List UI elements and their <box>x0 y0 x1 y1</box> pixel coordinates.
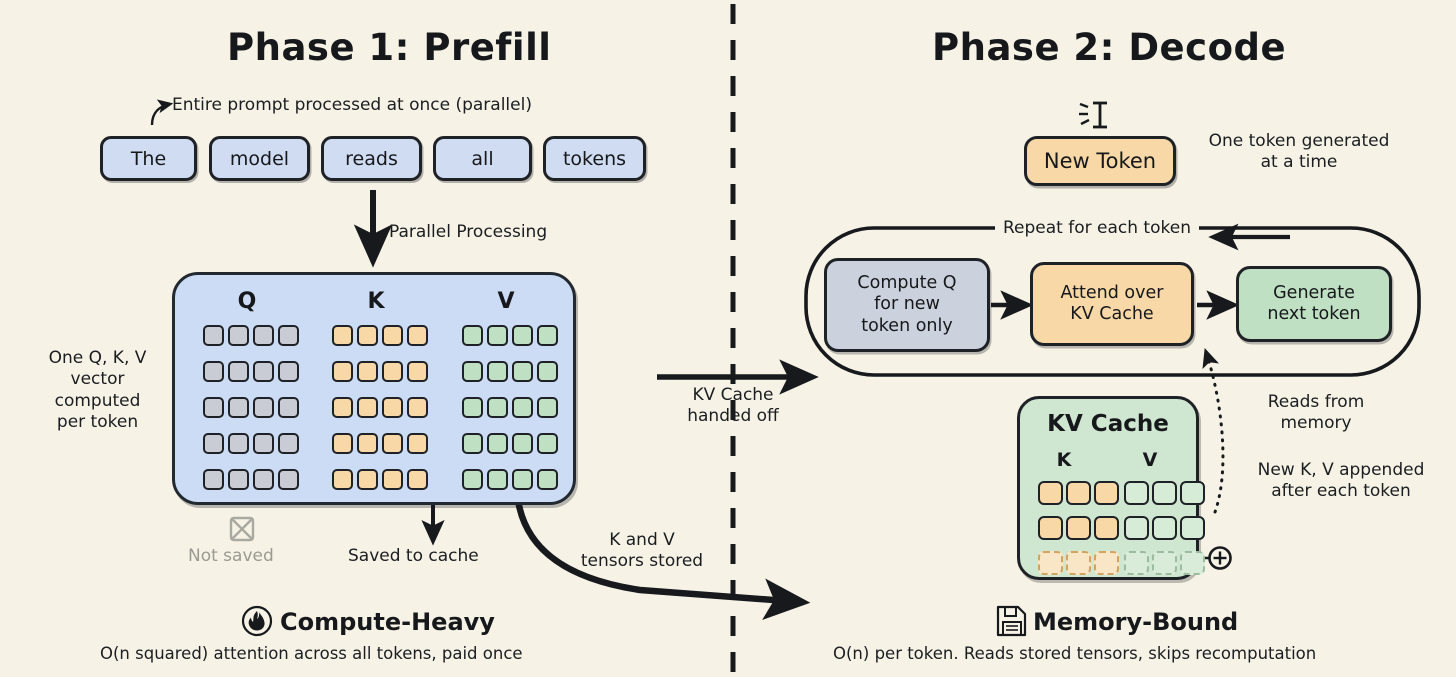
qkv-cell-k-1-2 <box>382 361 403 382</box>
qkv-cell-q-2-0 <box>203 397 224 418</box>
not-saved-crossed-box-icon <box>231 518 253 540</box>
qkv-panel: Q K V <box>172 272 576 505</box>
qkv-cell-q-1-1 <box>228 361 249 382</box>
qkv-cell-v-2-1 <box>487 397 508 418</box>
new-token-note: One token generated at a time <box>1186 131 1412 174</box>
token-chip-3[interactable]: all <box>433 136 532 181</box>
reads-from-memory-arrow <box>1206 352 1223 512</box>
prefill-callout: Entire prompt processed at once (paralle… <box>172 95 532 116</box>
tensors-stored-label: K and V tensors stored <box>560 530 724 573</box>
token-chip-4[interactable]: tokens <box>543 136 646 181</box>
qkv-cell-q-3-1 <box>228 433 249 454</box>
qkv-cell-v-4-2 <box>512 469 533 490</box>
kv-cache-cell-v-1-1 <box>1152 516 1177 540</box>
qkv-cell-q-1-3 <box>278 361 299 382</box>
qkv-cell-q-2-1 <box>228 397 249 418</box>
qkv-cell-k-1-0 <box>332 361 353 382</box>
qkv-cell-q-4-1 <box>228 469 249 490</box>
kv-cache-cell-v-1-0 <box>1124 516 1149 540</box>
text-cursor-icon <box>1079 103 1107 127</box>
qkv-cell-k-2-1 <box>357 397 378 418</box>
token-chip-2[interactable]: reads <box>321 136 422 181</box>
qkv-cell-v-4-0 <box>462 469 483 490</box>
qkv-cell-v-0-1 <box>487 325 508 346</box>
qkv-column-label-v: V <box>497 289 514 314</box>
kv-cache-cell-v-2-0-pending <box>1124 551 1149 575</box>
qkv-cell-v-2-3 <box>537 397 558 418</box>
qkv-cell-v-1-0 <box>462 361 483 382</box>
decode-step-attend-kv[interactable]: Attend over KV Cache <box>1030 262 1194 346</box>
qkv-cell-v-1-1 <box>487 361 508 382</box>
kv-cache-cell-v-2-2-pending <box>1180 551 1205 575</box>
qkv-cell-k-3-0 <box>332 433 353 454</box>
kv-cache-cell-k-2-1-pending <box>1066 551 1091 575</box>
qkv-cell-k-3-2 <box>382 433 403 454</box>
phase-1-title: Phase 1: Prefill <box>227 26 551 69</box>
qkv-cell-q-0-1 <box>228 325 249 346</box>
qkv-cell-q-0-3 <box>278 325 299 346</box>
token-chip-0[interactable]: The <box>100 136 197 181</box>
qkv-cell-v-0-3 <box>537 325 558 346</box>
qkv-cell-v-2-0 <box>462 397 483 418</box>
qkv-cell-q-3-3 <box>278 433 299 454</box>
qkv-cell-q-1-0 <box>203 361 224 382</box>
parallel-processing-label: Parallel Processing <box>389 222 547 243</box>
qkv-side-note: One Q, K, V vector computed per token <box>20 348 175 433</box>
qkv-cell-k-3-3 <box>407 433 428 454</box>
kv-cache-panel: KV Cache K V <box>1017 396 1199 580</box>
qkv-cell-q-1-2 <box>253 361 274 382</box>
qkv-cell-v-2-2 <box>512 397 533 418</box>
qkv-cell-v-3-3 <box>537 433 558 454</box>
qkv-column-label-k: K <box>367 289 384 314</box>
not-saved-label: Not saved <box>188 546 274 567</box>
qkv-cell-v-4-1 <box>487 469 508 490</box>
qkv-cell-q-4-0 <box>203 469 224 490</box>
qkv-cell-q-0-0 <box>203 325 224 346</box>
qkv-cell-v-3-1 <box>487 433 508 454</box>
qkv-cell-k-4-1 <box>357 469 378 490</box>
kv-cache-cell-k-1-0 <box>1038 516 1063 540</box>
floppy-disk-icon <box>998 607 1025 635</box>
qkv-cell-k-0-0 <box>332 325 353 346</box>
qkv-cell-k-0-1 <box>357 325 378 346</box>
qkv-cell-k-3-1 <box>357 433 378 454</box>
kv-cache-k-label: K <box>1057 449 1072 471</box>
qkv-cell-v-1-2 <box>512 361 533 382</box>
kv-cache-cell-k-2-0-pending <box>1038 551 1063 575</box>
qkv-cell-q-2-3 <box>278 397 299 418</box>
qkv-cell-k-0-2 <box>382 325 403 346</box>
kv-cache-cell-k-1-1 <box>1066 516 1091 540</box>
qkv-cell-k-1-1 <box>357 361 378 382</box>
qkv-cell-q-4-3 <box>278 469 299 490</box>
kv-cache-cell-v-1-2 <box>1180 516 1205 540</box>
qkv-cell-v-1-3 <box>537 361 558 382</box>
decode-step-generate-token[interactable]: Generate next token <box>1236 266 1392 342</box>
kv-cache-cell-k-2-2-pending <box>1094 551 1119 575</box>
saved-to-cache-label: Saved to cache <box>348 546 479 567</box>
kv-cache-cell-k-0-1 <box>1066 481 1091 505</box>
qkv-cell-k-4-2 <box>382 469 403 490</box>
callout-arrow <box>152 104 170 125</box>
qkv-cell-q-2-2 <box>253 397 274 418</box>
decode-footer-heading: Memory-Bound <box>1033 608 1238 636</box>
qkv-cell-q-0-2 <box>253 325 274 346</box>
qkv-cell-v-3-2 <box>512 433 533 454</box>
kv-cache-cell-k-1-2 <box>1094 516 1119 540</box>
kv-cache-cell-k-0-0 <box>1038 481 1063 505</box>
prefill-footer-heading: Compute-Heavy <box>280 608 495 636</box>
loop-label: Repeat for each token <box>995 218 1199 239</box>
qkv-column-label-q: Q <box>238 289 257 314</box>
kv-cache-cell-v-0-1 <box>1152 481 1177 505</box>
prefill-footer-sub: O(n squared) attention across all tokens… <box>100 644 523 663</box>
qkv-cell-k-4-3 <box>407 469 428 490</box>
reads-from-memory-label: Reads from memory <box>1236 392 1396 435</box>
qkv-cell-v-4-3 <box>537 469 558 490</box>
qkv-cell-q-4-2 <box>253 469 274 490</box>
kv-cache-cell-v-0-0 <box>1124 481 1149 505</box>
decode-footer-sub: O(n) per token. Reads stored tensors, sk… <box>833 644 1316 663</box>
appended-note: New K, V appended after each token <box>1232 460 1450 503</box>
qkv-cell-v-0-2 <box>512 325 533 346</box>
qkv-cell-k-4-0 <box>332 469 353 490</box>
qkv-cell-v-0-0 <box>462 325 483 346</box>
token-chip-1[interactable]: model <box>209 136 310 181</box>
qkv-cell-q-3-0 <box>203 433 224 454</box>
kv-handed-off-label: KV Cache handed off <box>655 385 811 428</box>
diagram-canvas: Phase 1: Prefill Entire prompt processed… <box>0 0 1456 677</box>
qkv-cell-k-2-3 <box>407 397 428 418</box>
kv-cache-cell-v-2-1-pending <box>1152 551 1177 575</box>
qkv-cell-v-3-0 <box>462 433 483 454</box>
decode-step-compute-q[interactable]: Compute Q for new token only <box>824 258 990 352</box>
kv-cache-title: KV Cache <box>1047 411 1169 437</box>
qkv-cell-k-1-3 <box>407 361 428 382</box>
kv-cache-cell-k-0-2 <box>1094 481 1119 505</box>
kv-cache-v-label: V <box>1143 449 1158 471</box>
flame-icon <box>243 607 271 635</box>
qkv-cell-k-2-0 <box>332 397 353 418</box>
qkv-cell-q-3-2 <box>253 433 274 454</box>
qkv-cell-k-0-3 <box>407 325 428 346</box>
new-token-box[interactable]: New Token <box>1024 136 1176 186</box>
qkv-cell-k-2-2 <box>382 397 403 418</box>
phase-2-title: Phase 2: Decode <box>932 26 1286 69</box>
kv-cache-cell-v-0-2 <box>1180 481 1205 505</box>
